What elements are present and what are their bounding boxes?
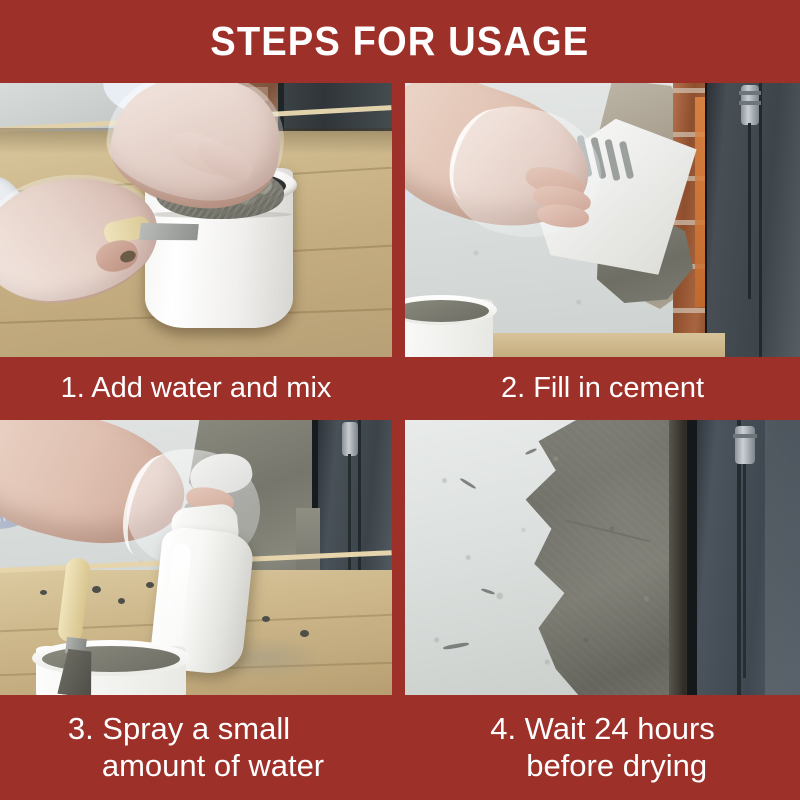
step-4-caption-block: 4. Wait 24 hours before drying (490, 711, 715, 784)
bolt-ridge (739, 91, 761, 95)
page-title: STEPS FOR USAGE (210, 18, 589, 65)
step-4-image (405, 420, 800, 695)
step-1-caption-text: 1. Add water and mix (61, 371, 332, 405)
step-4-caption-line-1: 4. Wait 24 hours (490, 711, 715, 748)
step-3-caption-line-1: 3. Spray a small (68, 711, 324, 748)
step-4-caption: 4. Wait 24 hours before drying (405, 695, 800, 800)
frame-bolt (342, 422, 358, 456)
frame-bolt (735, 426, 755, 464)
title-bar: STEPS FOR USAGE (0, 0, 800, 83)
frame-rod (748, 123, 751, 299)
step-3-caption: 3. Spray a small amount of water (0, 695, 392, 800)
door-frame-highlight (765, 420, 799, 695)
step-2-caption: 2. Fill in cement (405, 357, 800, 420)
steps-for-usage-infographic: STEPS FOR USAGE (0, 0, 800, 800)
step-2-image (405, 83, 800, 357)
debris-bit (118, 598, 125, 604)
cardboard-sheet (465, 333, 725, 357)
cement-mortar (42, 646, 180, 672)
step-3-image (0, 420, 392, 695)
debris-bit (40, 590, 47, 595)
debris-bit (262, 616, 270, 622)
debris-bit (300, 630, 309, 637)
step-3-caption-block: 3. Spray a small amount of water (68, 711, 324, 784)
bolt-ridge (739, 101, 761, 105)
door-frame-seam (759, 83, 762, 357)
step-1-image (0, 83, 392, 357)
frame-rod (743, 464, 746, 678)
step-2-caption-text: 2. Fill in cement (501, 371, 704, 405)
bolt-ridge (733, 434, 757, 438)
step-3-caption-line-2: amount of water (68, 748, 324, 785)
debris-bit (92, 586, 101, 593)
step-4-caption-line-2: before drying (490, 748, 715, 785)
debris-bit (146, 582, 154, 588)
step-1-caption: 1. Add water and mix (0, 357, 392, 420)
